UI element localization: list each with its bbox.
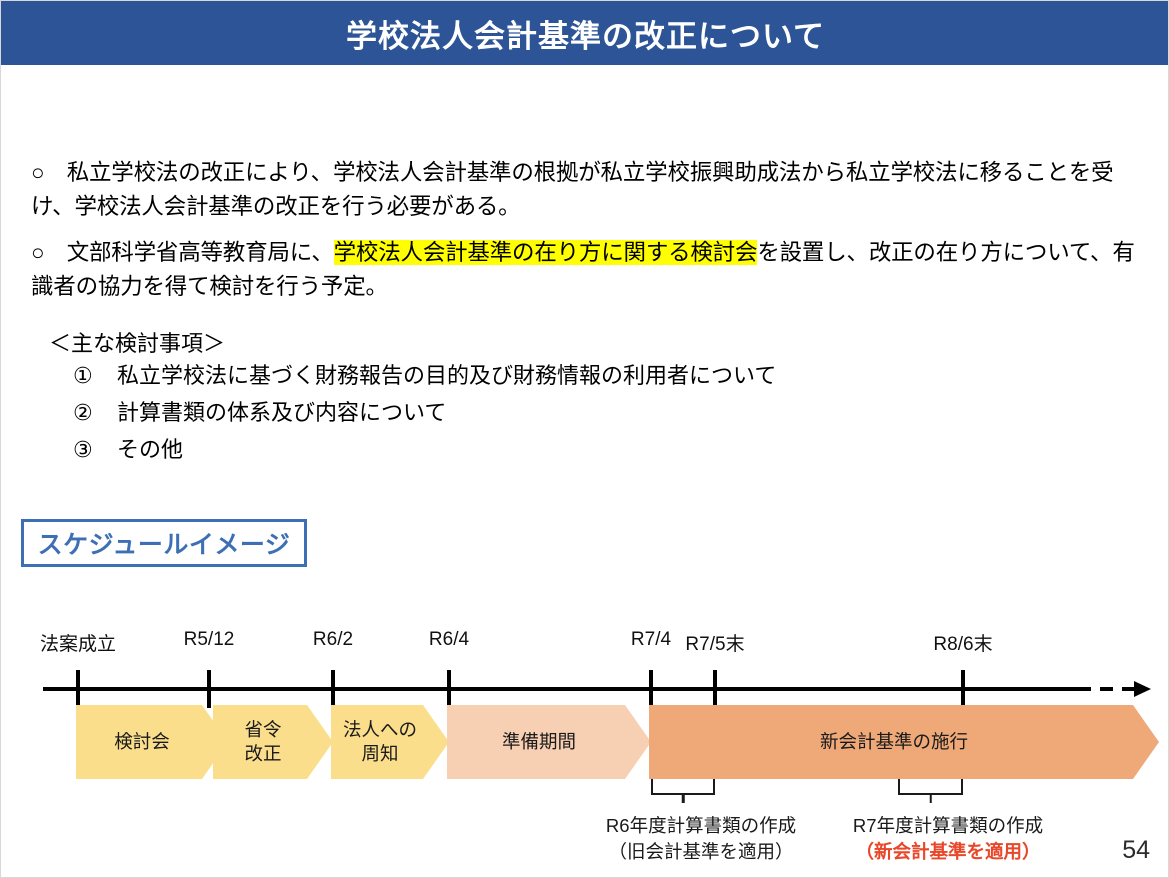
timeline-phase-chevron: 省令 改正 xyxy=(213,705,333,779)
sub-heading: ＜主な検討事項＞ xyxy=(49,326,225,358)
timeline-brace-stem xyxy=(682,793,685,803)
list-item-number: ② xyxy=(73,396,117,430)
list-item: ③その他 xyxy=(73,433,1073,467)
timeline-brace xyxy=(651,779,715,795)
timeline-milestone-label: 法案成立 xyxy=(40,629,116,656)
timeline-tick xyxy=(961,670,965,708)
paragraph-1-text: 私立学校法の改正により、学校法人会計基準の根拠が私立学校振興助成法から私立学校法… xyxy=(31,160,1113,219)
schedule-heading-box: スケジュールイメージ xyxy=(21,519,307,567)
timeline-tick xyxy=(331,670,335,708)
timeline-arrow-icon xyxy=(1134,681,1151,697)
list-item-number: ③ xyxy=(73,433,117,467)
timeline-footnote-line-2: （新会計基準を適用） xyxy=(853,839,1043,865)
paragraph-2: ○ 文部科学省高等教育局に、学校法人会計基準の在り方に関する検討会を設置し、改正… xyxy=(31,236,1141,304)
page-title: 学校法人会計基準の改正について xyxy=(346,11,825,56)
slide-canvas: 学校法人会計基準の改正について ○ 私立学校法の改正により、学校法人会計基準の根… xyxy=(0,0,1169,878)
timeline-milestone-label: R8/6末 xyxy=(933,629,992,656)
list-item: ①私立学校法に基づく財務報告の目的及び財務情報の利用者について xyxy=(73,359,1073,393)
paragraph-2-text-before: 文部科学省高等教育局に、 xyxy=(44,240,333,265)
timeline-milestone-label: R7/5末 xyxy=(685,629,744,656)
timeline-milestone-label: R6/4 xyxy=(429,629,469,651)
timeline-phase-label: 法人への 周知 xyxy=(343,718,437,766)
timeline-phase-chevron: 新会計基準の施行 xyxy=(649,705,1159,779)
timeline-footnote: R6年度計算書類の作成（旧会計基準を適用） xyxy=(606,813,796,865)
consideration-items-list: ①私立学校法に基づく財務報告の目的及び財務情報の利用者について②計算書類の体系及… xyxy=(73,359,1073,470)
timeline-milestone-label: R5/12 xyxy=(184,629,235,651)
timeline-brace xyxy=(898,779,963,795)
timeline-footnote-line-1: R7年度計算書類の作成 xyxy=(853,813,1043,839)
timeline-phase-label: 検討会 xyxy=(114,730,190,754)
timeline-axis-dashed-segment xyxy=(1078,687,1134,691)
paragraph-2-highlight: 学校法人会計基準の在り方に関する検討会 xyxy=(334,240,758,265)
page-number: 54 xyxy=(1122,836,1150,865)
list-item-label: 計算書類の体系及び内容について xyxy=(117,396,446,430)
timeline-phase-label: 準備期間 xyxy=(502,730,596,754)
timeline-phase-label: 新会計基準の施行 xyxy=(820,730,988,754)
timeline-phase-chevron: 検討会 xyxy=(76,705,228,779)
timeline-tick xyxy=(76,670,80,708)
timeline-tick xyxy=(649,670,653,708)
timeline-phase-label: 省令 改正 xyxy=(244,718,301,766)
timeline-footnote: R7年度計算書類の作成（新会計基準を適用） xyxy=(853,813,1043,865)
schedule-heading-label: スケジュールイメージ xyxy=(38,525,291,561)
timeline-milestone-label: R6/2 xyxy=(313,629,353,651)
timeline-milestone-label: R7/4 xyxy=(631,629,671,651)
paragraph-1: ○ 私立学校法の改正により、学校法人会計基準の根拠が私立学校振興助成法から私立学… xyxy=(31,156,1141,224)
timeline-brace-stem xyxy=(929,793,932,803)
list-item-label: その他 xyxy=(117,433,183,467)
schedule-timeline: 法案成立R5/12R6/2R6/4R7/4R7/5末R8/6末 検討会省令 改正… xyxy=(1,601,1169,878)
timeline-phase-chevron: 準備期間 xyxy=(447,705,651,779)
list-item-number: ① xyxy=(73,359,117,393)
timeline-footnote-line-1: R6年度計算書類の作成 xyxy=(606,813,796,839)
timeline-tick xyxy=(447,670,451,708)
timeline-phase-chevron: 法人への 周知 xyxy=(331,705,449,779)
paragraph-2-bullet: ○ xyxy=(31,240,44,265)
timeline-tick xyxy=(713,670,717,708)
list-item-label: 私立学校法に基づく財務報告の目的及び財務情報の利用者について xyxy=(117,359,776,393)
timeline-axis-line xyxy=(43,687,1078,691)
timeline-tick xyxy=(207,670,211,708)
list-item: ②計算書類の体系及び内容について xyxy=(73,396,1073,430)
slide-title-bar: 学校法人会計基準の改正について xyxy=(1,1,1169,65)
paragraph-1-bullet: ○ xyxy=(31,160,44,185)
timeline-footnote-line-2: （旧会計基準を適用） xyxy=(606,839,796,865)
